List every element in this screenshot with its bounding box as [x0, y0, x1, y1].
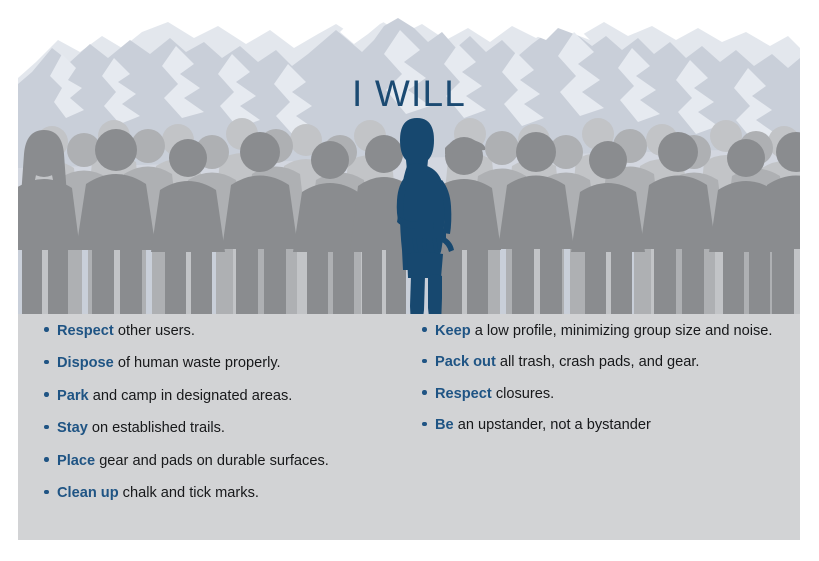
- bullet-dot-icon: [44, 490, 49, 495]
- list-item: Dispose of human waste properly.: [44, 355, 414, 373]
- pledge-lead: Clean up: [57, 485, 119, 501]
- bullet-dot-icon: [44, 327, 49, 332]
- bullet-dot-icon: [422, 327, 427, 332]
- bullet-dot-icon: [422, 390, 427, 395]
- list-item: Place gear and pads on durable surfaces.: [44, 453, 414, 471]
- list-item: Pack out all trash, crash pads, and gear…: [422, 354, 782, 372]
- bullet-dot-icon: [44, 392, 49, 397]
- pledge-lead: Respect: [435, 386, 492, 402]
- illustration-scene: I WILL: [18, 18, 800, 323]
- pledge-rest: other users.: [114, 323, 195, 339]
- pledge-rest: of human waste properly.: [114, 355, 281, 371]
- pledge-lead: Place: [57, 453, 95, 469]
- pledge-list-left: Respect other users. Dispose of human wa…: [44, 323, 414, 503]
- poster-card: I WILL Respect other users. Dispose of h…: [18, 18, 800, 540]
- pledge-lists: Respect other users. Dispose of human wa…: [18, 323, 800, 540]
- pledge-lead: Pack out: [435, 354, 496, 370]
- pledge-rest: an upstander, not a bystander: [454, 417, 651, 433]
- pledge-rest: chalk and tick marks.: [119, 485, 259, 501]
- pledge-rest: gear and pads on durable surfaces.: [95, 453, 329, 469]
- list-item: Park and camp in designated areas.: [44, 388, 414, 406]
- bullet-dot-icon: [44, 457, 49, 462]
- pledge-lead: Respect: [57, 323, 114, 339]
- pledge-lead: Dispose: [57, 355, 114, 371]
- list-item: Keep a low profile, minimizing group siz…: [422, 323, 782, 341]
- bullet-dot-icon: [44, 425, 49, 430]
- pledge-list-right: Keep a low profile, minimizing group siz…: [422, 323, 782, 435]
- pledge-rest: closures.: [492, 386, 554, 402]
- pledge-rest: on established trails.: [88, 420, 225, 436]
- list-item: Respect closures.: [422, 386, 782, 404]
- pledge-column-left: Respect other users. Dispose of human wa…: [44, 323, 414, 518]
- pledge-rest: a low profile, minimizing group size and…: [471, 323, 773, 339]
- list-item: Respect other users.: [44, 323, 414, 341]
- list-item: Stay on established trails.: [44, 420, 414, 438]
- list-item: Be an upstander, not a bystander: [422, 417, 782, 435]
- bullet-dot-icon: [422, 359, 427, 364]
- pledge-rest: and camp in designated areas.: [89, 388, 293, 404]
- pledge-rest: all trash, crash pads, and gear.: [496, 354, 700, 370]
- ground-plane: [18, 314, 800, 323]
- pledge-lead: Stay: [57, 420, 88, 436]
- bullet-dot-icon: [44, 360, 49, 365]
- pledge-lead: Keep: [435, 323, 471, 339]
- pledge-lead: Be: [435, 417, 454, 433]
- bullet-dot-icon: [422, 422, 427, 427]
- list-item: Clean up chalk and tick marks.: [44, 485, 414, 503]
- pledge-column-right: Keep a low profile, minimizing group siz…: [422, 323, 782, 449]
- pledge-lead: Park: [57, 388, 89, 404]
